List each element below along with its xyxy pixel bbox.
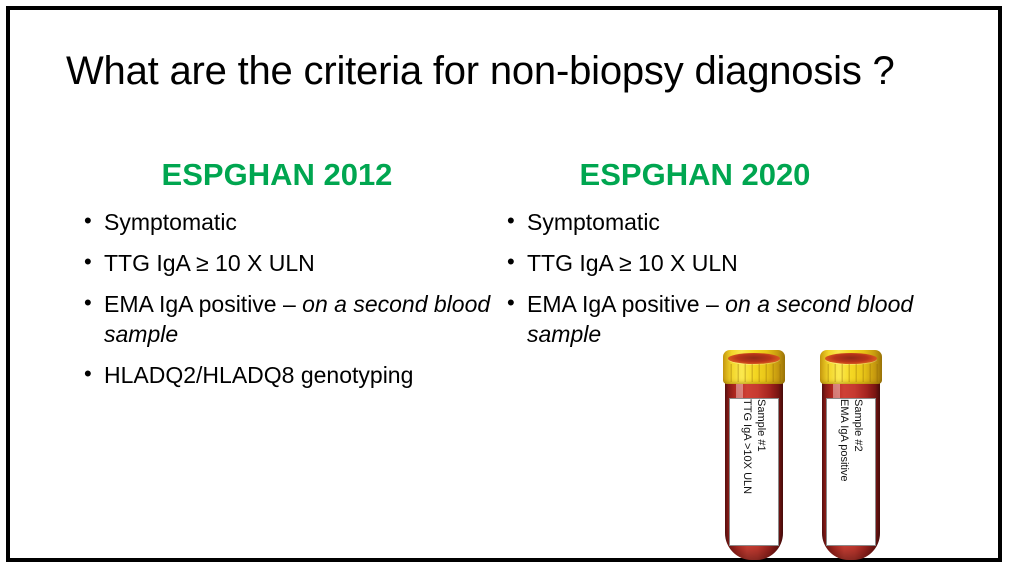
tube-label-line-2: EMA IgA positive bbox=[837, 399, 851, 545]
bullet-text: HLADQ2/HLADQ8 genotyping bbox=[104, 362, 413, 388]
page-title: What are the criteria for non-biopsy dia… bbox=[66, 48, 946, 94]
blood-tubes-illustration: Sample #1 TTG IgA >10X ULN Sample #2 EMA… bbox=[712, 348, 897, 563]
bullet-text: Symptomatic bbox=[104, 209, 237, 235]
list-item: EMA IgA positive – on a second blood sam… bbox=[505, 290, 935, 350]
tube-label-line-1: Sample #1 bbox=[754, 399, 768, 545]
tube-cap-icon bbox=[820, 350, 882, 384]
tube-cap-rim bbox=[728, 353, 780, 364]
criteria-list-2012: Symptomatic TTG IgA ≥ 10 X ULN EMA IgA p… bbox=[82, 208, 502, 390]
bullet-text: TTG IgA ≥ 10 X ULN bbox=[527, 250, 738, 276]
tube-label-2: Sample #2 EMA IgA positive bbox=[826, 398, 876, 546]
slide: What are the criteria for non-biopsy dia… bbox=[0, 0, 1010, 570]
bullet-text: EMA IgA positive – bbox=[527, 291, 725, 317]
bullet-text: TTG IgA ≥ 10 X ULN bbox=[104, 250, 315, 276]
blood-tube-sample-2: Sample #2 EMA IgA positive bbox=[822, 348, 880, 560]
list-item: TTG IgA ≥ 10 X ULN bbox=[82, 249, 502, 279]
tube-cap-ridges bbox=[725, 364, 783, 382]
column-espghan-2020: ESPGHAN 2020 Symptomatic TTG IgA ≥ 10 X … bbox=[505, 158, 935, 361]
list-item: TTG IgA ≥ 10 X ULN bbox=[505, 249, 935, 279]
blood-tube-sample-1: Sample #1 TTG IgA >10X ULN bbox=[725, 348, 783, 560]
tube-label-1: Sample #1 TTG IgA >10X ULN bbox=[729, 398, 779, 546]
bullet-text: Symptomatic bbox=[527, 209, 660, 235]
list-item: Symptomatic bbox=[82, 208, 502, 238]
tube-label-line-1: Sample #2 bbox=[851, 399, 865, 545]
column-heading-2020: ESPGHAN 2020 bbox=[505, 158, 935, 192]
tube-cap-rim bbox=[825, 353, 877, 364]
criteria-list-2020: Symptomatic TTG IgA ≥ 10 X ULN EMA IgA p… bbox=[505, 208, 935, 350]
list-item: HLADQ2/HLADQ8 genotyping bbox=[82, 361, 502, 391]
list-item: EMA IgA positive – on a second blood sam… bbox=[82, 290, 502, 350]
tube-cap-ridges bbox=[822, 364, 880, 382]
tube-cap-icon bbox=[723, 350, 785, 384]
bullet-text: EMA IgA positive – bbox=[104, 291, 302, 317]
tube-label-line-2: TTG IgA >10X ULN bbox=[740, 399, 754, 545]
column-espghan-2012: ESPGHAN 2012 Symptomatic TTG IgA ≥ 10 X … bbox=[82, 158, 502, 402]
column-heading-2012: ESPGHAN 2012 bbox=[82, 158, 502, 192]
list-item-struck-symptomatic: Symptomatic bbox=[505, 208, 935, 238]
